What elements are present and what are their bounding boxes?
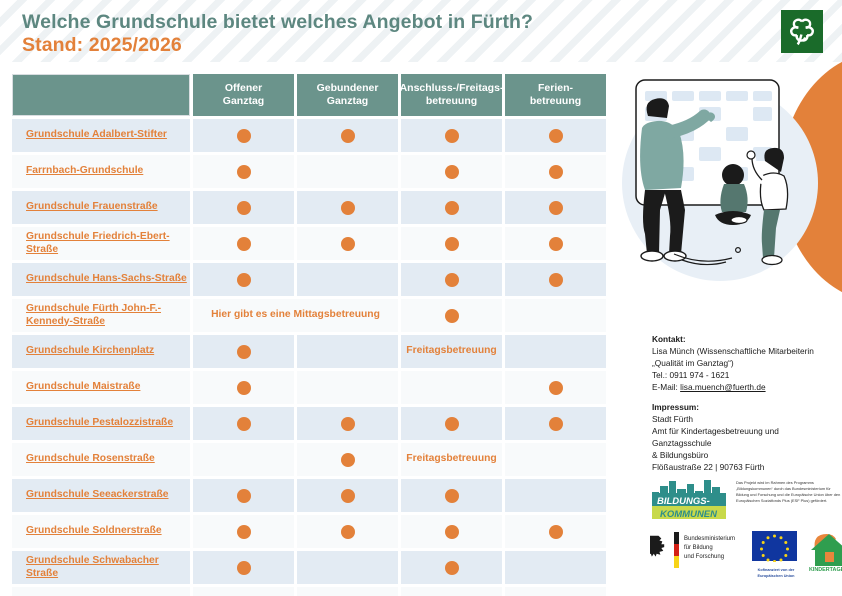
school-link[interactable]: Grundschule Rosenstraße bbox=[26, 453, 155, 466]
table-cell-school-name: Grundschule Friedrich-Ebert-Straße bbox=[12, 227, 190, 260]
impressum-org3: & Bildungsbüro bbox=[652, 449, 840, 461]
page-title-line2: Stand: 2025/2026 bbox=[22, 34, 533, 57]
school-link[interactable]: Grundschule Seeackerstraße bbox=[26, 489, 169, 502]
table-cell-offener-ganztag bbox=[193, 227, 294, 260]
offer-available-dot bbox=[237, 129, 251, 143]
offer-available-dot bbox=[549, 417, 563, 431]
contact-role: „Qualität im Ganztag“) bbox=[652, 357, 840, 369]
header-cell-offener-ganztag: Offener Ganztag bbox=[193, 74, 294, 116]
table-row: Grundschule Pestalozzistraße bbox=[12, 407, 608, 440]
school-link[interactable]: Grundschule Hans-Sachs-Straße bbox=[26, 273, 187, 286]
table-cell-ferienbetreuung bbox=[505, 551, 606, 584]
offer-available-dot bbox=[549, 165, 563, 179]
cell-note-text: Freitagsbetreuung bbox=[406, 453, 496, 465]
eu-caption-line2: Europäischen Union bbox=[750, 574, 802, 579]
offer-available-dot bbox=[445, 525, 459, 539]
table-cell-anschluss-freitagsbetreuung bbox=[401, 587, 502, 596]
offer-available-dot bbox=[341, 453, 355, 467]
fuerth-clover-logo bbox=[781, 10, 823, 53]
table-cell-ferienbetreuung bbox=[505, 335, 606, 368]
school-link[interactable]: Grundschule Kirchenplatz bbox=[26, 345, 154, 358]
eu-caption-line1: Kofinanziert von der bbox=[750, 568, 802, 573]
offer-available-dot bbox=[341, 201, 355, 215]
table-cell-anschluss-freitagsbetreuung bbox=[401, 551, 502, 584]
offer-available-dot bbox=[549, 237, 563, 251]
header-label-line1: Gebundener bbox=[317, 82, 379, 94]
offer-available-dot bbox=[549, 129, 563, 143]
table-cell-school-name: Grundschule Maistraße bbox=[12, 371, 190, 404]
contact-email-row: E-Mail: lisa.muench@fuerth.de bbox=[652, 381, 840, 393]
table-cell-ferienbetreuung bbox=[505, 299, 606, 332]
offer-available-dot bbox=[445, 273, 459, 287]
table-cell-gebundener-ganztag bbox=[297, 479, 398, 512]
table-row: Farrnbach-Grundschule bbox=[12, 155, 608, 188]
table-cell-offener-ganztag bbox=[193, 155, 294, 188]
table-cell-school-name: Grundschule Kirchenplatz bbox=[12, 335, 190, 368]
table-cell-offener-ganztag bbox=[193, 551, 294, 584]
table-row: Grundschule Schwabacher Straße bbox=[12, 551, 608, 584]
offer-available-dot bbox=[237, 273, 251, 287]
bmbf-logo: Bundesministerium für Bildung und Forsch… bbox=[650, 528, 740, 572]
table-cell-school-name: Grundschule Seeackerstraße bbox=[12, 479, 190, 512]
header-cell-ferienbetreuung: Ferien- betreuung bbox=[505, 74, 606, 116]
offer-available-dot bbox=[445, 417, 459, 431]
table-row: Grundschule Soldnerstraße bbox=[12, 515, 608, 548]
bmbf-line1: Bundesministerium bbox=[684, 536, 735, 542]
impressum-org2: Amt für Kindertagesbetreuung und Ganztag… bbox=[652, 425, 840, 449]
offer-available-dot bbox=[549, 201, 563, 215]
table-cell-ferienbetreuung bbox=[505, 155, 606, 188]
bildungskommunen-logo: BILDUNGS- KOMMUNEN bbox=[650, 478, 728, 522]
header-label-line2: Ganztag bbox=[223, 95, 264, 107]
table-cell-offener-ganztag bbox=[193, 587, 294, 596]
offer-available-dot bbox=[445, 561, 459, 575]
table-cell-school-name: Grundschule Fürth John-F.-Kennedy-Straße bbox=[12, 299, 190, 332]
offer-available-dot bbox=[445, 201, 459, 215]
offer-available-dot bbox=[237, 489, 251, 503]
bk-line2: KOMMUNEN bbox=[660, 509, 718, 520]
offer-available-dot bbox=[237, 417, 251, 431]
offer-available-dot bbox=[445, 309, 459, 323]
table-cell-ferienbetreuung bbox=[505, 407, 606, 440]
table-cell-gebundener-ganztag bbox=[297, 191, 398, 224]
impressum-label: Impressum: bbox=[652, 401, 840, 413]
offer-available-dot bbox=[237, 165, 251, 179]
header-label-line1: Ferien- bbox=[538, 82, 573, 94]
table-cell-offener-ganztag bbox=[193, 335, 294, 368]
table-cell-ferienbetreuung bbox=[505, 227, 606, 260]
table-row: Grundschule Fürth John-F.-Kennedy-Straße… bbox=[12, 299, 608, 332]
impressum-org1: Stadt Fürth bbox=[652, 413, 840, 425]
school-link[interactable]: Farrnbach-Grundschule bbox=[26, 165, 143, 178]
table-cell-ferienbetreuung bbox=[505, 191, 606, 224]
header-label-line1: Offener bbox=[225, 82, 262, 94]
table-cell-school-name: Grundschule Schwabacher Straße bbox=[12, 551, 190, 584]
funding-statement: Das Projekt wird im Rahmen des Programms… bbox=[736, 480, 842, 503]
table-cell-school-name: Grundschule Zedernstraße bbox=[12, 587, 190, 596]
table-row: Grundschule Hans-Sachs-Straße bbox=[12, 263, 608, 296]
table-cell-ferienbetreuung bbox=[505, 587, 606, 596]
table-cell-offener-ganztag bbox=[193, 407, 294, 440]
header-label-line2: betreuung bbox=[426, 95, 477, 107]
impressum-address: Flößaustraße 22 | 90763 Fürth bbox=[652, 461, 840, 473]
offer-available-dot bbox=[237, 345, 251, 359]
offer-available-dot bbox=[237, 201, 251, 215]
table-cell-offener-ganztag bbox=[193, 443, 294, 476]
table-cell-gebundener-ganztag bbox=[297, 407, 398, 440]
eu-logo: Kofinanziert von der Europäischen Union bbox=[750, 530, 802, 576]
table-row: Grundschule Rosenstraße Freitagsbetreuun… bbox=[12, 443, 608, 476]
table-cell-anschluss-freitagsbetreuung bbox=[401, 515, 502, 548]
table-header-row: Offener Ganztag Gebundener Ganztag Ansch… bbox=[12, 74, 608, 116]
table-cell-offener-ganztag bbox=[193, 371, 294, 404]
kontakt-label: Kontakt: bbox=[652, 333, 840, 345]
table-cell-offener-ganztag bbox=[193, 479, 294, 512]
offer-available-dot bbox=[237, 561, 251, 575]
table-cell-anschluss-freitagsbetreuung bbox=[401, 263, 502, 296]
school-link[interactable]: Grundschule Frauenstraße bbox=[26, 201, 158, 214]
offer-available-dot bbox=[445, 129, 459, 143]
table-row: Grundschule Adalbert-Stifter bbox=[12, 119, 608, 152]
table-cell-anschluss-freitagsbetreuung bbox=[401, 227, 502, 260]
offer-available-dot bbox=[237, 381, 251, 395]
school-link[interactable]: Grundschule Schwabacher Straße bbox=[26, 555, 190, 580]
school-link[interactable]: Grundschule Fürth John-F.-Kennedy-Straße bbox=[26, 303, 190, 328]
table-cell-anschluss-freitagsbetreuung bbox=[401, 371, 502, 404]
offer-available-dot bbox=[341, 489, 355, 503]
header-label-line2: Ganztag bbox=[327, 95, 368, 107]
table-cell-anschluss-freitagsbetreuung bbox=[401, 299, 502, 332]
table-cell-gebundener-ganztag bbox=[297, 371, 398, 404]
school-link[interactable]: Grundschule Friedrich-Ebert-Straße bbox=[26, 231, 190, 256]
table-cell-ferienbetreuung bbox=[505, 515, 606, 548]
table-body: Grundschule Adalbert-StifterFarrnbach-Gr… bbox=[12, 119, 608, 596]
funding-logos: BILDUNGS- KOMMUNEN Das Projekt wird im R… bbox=[650, 478, 842, 588]
kiju-line1: KINDERTAGESBETREUUNG bbox=[809, 567, 842, 573]
table-cell-anschluss-freitagsbetreuung bbox=[401, 479, 502, 512]
bmbf-line3: und Forschung bbox=[684, 554, 724, 560]
offer-available-dot bbox=[341, 129, 355, 143]
table-cell-gebundener-ganztag bbox=[297, 443, 398, 476]
table-cell-gebundener-ganztag bbox=[297, 119, 398, 152]
contact-tel: Tel.: 0911 974 - 1621 bbox=[652, 369, 840, 381]
table-cell-school-name: Grundschule Pestalozzistraße bbox=[12, 407, 190, 440]
table-cell-offener-ganztag bbox=[193, 191, 294, 224]
table-cell-ferienbetreuung bbox=[505, 263, 606, 296]
header-cell-anschluss-freitagsbetreuung: Anschluss-/Freitags- betreuung bbox=[401, 74, 502, 116]
table-row: Grundschule Kirchenplatz Freitagsbetreuu… bbox=[12, 335, 608, 368]
header-label-line1: Anschluss-/Freitags- bbox=[400, 82, 504, 94]
table-cell-ferienbetreuung bbox=[505, 371, 606, 404]
table-row: Grundschule Friedrich-Ebert-Straße bbox=[12, 227, 608, 260]
table-row: Grundschule Maistraße bbox=[12, 371, 608, 404]
table-cell-gebundener-ganztag bbox=[297, 515, 398, 548]
page-title-line1: Welche Grundschule bietet welches Angebo… bbox=[22, 11, 533, 34]
school-link[interactable]: Grundschule Soldnerstraße bbox=[26, 525, 162, 538]
table-row: Grundschule Zedernstraße bbox=[12, 587, 608, 596]
page-title: Welche Grundschule bietet welches Angebo… bbox=[22, 11, 533, 57]
table-cell-anschluss-freitagsbetreuung: Freitagsbetreuung bbox=[401, 443, 502, 476]
offer-available-dot bbox=[237, 525, 251, 539]
table-cell-ferienbetreuung bbox=[505, 479, 606, 512]
table-cell-offener-ganztag bbox=[193, 263, 294, 296]
table-cell-school-name: Farrnbach-Grundschule bbox=[12, 155, 190, 188]
contact-block: Kontakt: Lisa Münch (Wissenschaftliche M… bbox=[652, 333, 840, 473]
offer-available-dot bbox=[549, 381, 563, 395]
table-cell-gebundener-ganztag bbox=[297, 587, 398, 596]
table-cell-merged-note: Hier gibt es eine Mittagsbetreuung bbox=[193, 299, 398, 332]
table-cell-school-name: Grundschule Rosenstraße bbox=[12, 443, 190, 476]
offer-available-dot bbox=[237, 237, 251, 251]
offer-available-dot bbox=[341, 525, 355, 539]
email-label: E-Mail: bbox=[652, 382, 680, 392]
table-cell-anschluss-freitagsbetreuung: Freitagsbetreuung bbox=[401, 335, 502, 368]
header-label-line2: betreuung bbox=[530, 95, 581, 107]
table-cell-school-name: Grundschule Adalbert-Stifter bbox=[12, 119, 190, 152]
cell-note-text: Hier gibt es eine Mittagsbetreuung bbox=[211, 309, 380, 321]
table-cell-anschluss-freitagsbetreuung bbox=[401, 407, 502, 440]
table-row: Grundschule Frauenstraße bbox=[12, 191, 608, 224]
header-cell-gebundener-ganztag: Gebundener Ganztag bbox=[297, 74, 398, 116]
table-cell-anschluss-freitagsbetreuung bbox=[401, 191, 502, 224]
poster-page: Welche Grundschule bietet welches Angebo… bbox=[0, 0, 842, 596]
offer-available-dot bbox=[549, 525, 563, 539]
table-cell-school-name: Grundschule Hans-Sachs-Straße bbox=[12, 263, 190, 296]
classroom-illustration bbox=[612, 58, 842, 308]
table-row: Grundschule Seeackerstraße bbox=[12, 479, 608, 512]
table-cell-offener-ganztag bbox=[193, 515, 294, 548]
header-cell-school bbox=[12, 74, 190, 116]
offer-available-dot bbox=[341, 237, 355, 251]
offer-available-dot bbox=[445, 489, 459, 503]
bk-line1: BILDUNGS- bbox=[657, 496, 710, 507]
table-cell-school-name: Grundschule Frauenstraße bbox=[12, 191, 190, 224]
cell-note-text: Freitagsbetreuung bbox=[406, 345, 496, 357]
school-link[interactable]: Grundschule Pestalozzistraße bbox=[26, 417, 173, 430]
offer-available-dot bbox=[549, 273, 563, 287]
table-cell-school-name: Grundschule Soldnerstraße bbox=[12, 515, 190, 548]
table-cell-anschluss-freitagsbetreuung bbox=[401, 119, 502, 152]
table-cell-ferienbetreuung bbox=[505, 119, 606, 152]
table-cell-gebundener-ganztag bbox=[297, 227, 398, 260]
offer-available-dot bbox=[445, 165, 459, 179]
bmbf-line2: für Bildung bbox=[684, 545, 713, 551]
table-cell-anschluss-freitagsbetreuung bbox=[401, 155, 502, 188]
table-cell-gebundener-ganztag bbox=[297, 263, 398, 296]
school-link[interactable]: Grundschule Adalbert-Stifter bbox=[26, 129, 167, 142]
table-cell-gebundener-ganztag bbox=[297, 551, 398, 584]
kindertagesbetreuung-logo: KINDERTAGESBETREUUNG UND GANZTAGSSCHULE bbox=[807, 530, 842, 574]
table-cell-gebundener-ganztag bbox=[297, 155, 398, 188]
table-cell-ferienbetreuung bbox=[505, 443, 606, 476]
table-cell-gebundener-ganztag bbox=[297, 335, 398, 368]
ministry-logo-row: Bundesministerium für Bildung und Forsch… bbox=[615, 528, 842, 578]
table-cell-offener-ganztag bbox=[193, 119, 294, 152]
offer-available-dot bbox=[341, 417, 355, 431]
contact-name: Lisa Münch (Wissenschaftliche Mitarbeite… bbox=[652, 345, 840, 357]
offer-available-dot bbox=[445, 237, 459, 251]
email-link[interactable]: lisa.muench@fuerth.de bbox=[680, 382, 765, 392]
offers-table: Offener Ganztag Gebundener Ganztag Ansch… bbox=[12, 74, 608, 596]
school-link[interactable]: Grundschule Maistraße bbox=[26, 381, 140, 394]
